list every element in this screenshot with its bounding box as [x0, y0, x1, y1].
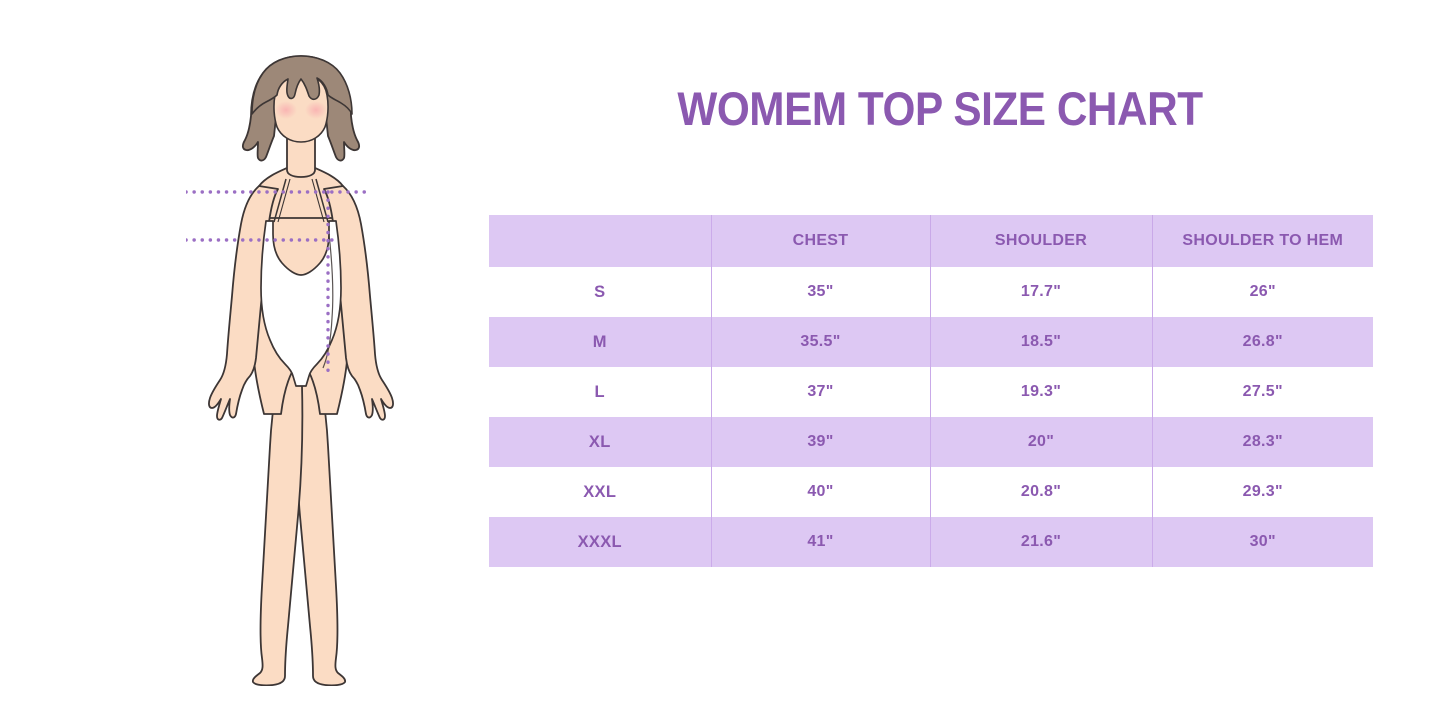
cell-chest: 41" [711, 517, 930, 567]
blush-right [305, 101, 327, 119]
cell-shoulder-to-hem: 26.8" [1152, 317, 1373, 367]
column-header-shoulder-to-hem: SHOULDER TO HEM [1152, 215, 1373, 267]
table-header-row: CHEST SHOULDER SHOULDER TO HEM [489, 215, 1373, 267]
table-row: L 37" 19.3" 27.5" [489, 367, 1373, 417]
cell-size: XL [489, 417, 711, 467]
cell-size: L [489, 367, 711, 417]
cell-chest: 37" [711, 367, 930, 417]
column-header-chest: CHEST [711, 215, 930, 267]
cell-shoulder-to-hem: 27.5" [1152, 367, 1373, 417]
cell-shoulder: 20.8" [930, 467, 1152, 517]
page-title: WOMEM TOP SIZE CHART [517, 83, 1363, 136]
blush-left [275, 101, 297, 119]
cell-chest: 35.5" [711, 317, 930, 367]
column-header-size [489, 215, 711, 267]
cell-shoulder: 18.5" [930, 317, 1152, 367]
figure-panel: SHOULDER CHEST SHOULDER TO HEM [0, 0, 470, 723]
cell-size: M [489, 317, 711, 367]
cell-shoulder-to-hem: 28.3" [1152, 417, 1373, 467]
cell-shoulder: 17.7" [930, 267, 1152, 317]
table-row: XXXL 41" 21.6" 30" [489, 517, 1373, 567]
table-row: M 35.5" 18.5" 26.8" [489, 317, 1373, 367]
cell-shoulder: 19.3" [930, 367, 1152, 417]
cell-chest: 40" [711, 467, 930, 517]
table-header: CHEST SHOULDER SHOULDER TO HEM [489, 215, 1373, 267]
cell-shoulder: 21.6" [930, 517, 1152, 567]
neck [287, 138, 315, 177]
cell-shoulder: 20" [930, 417, 1152, 467]
cell-shoulder-to-hem: 29.3" [1152, 467, 1373, 517]
cell-size: S [489, 267, 711, 317]
column-header-shoulder: SHOULDER [930, 215, 1152, 267]
cell-shoulder-to-hem: 26" [1152, 267, 1373, 317]
table-body: S 35" 17.7" 26" M 35.5" 18.5" 26.8" L 37… [489, 267, 1373, 567]
size-chart-table-container: CHEST SHOULDER SHOULDER TO HEM S 35" 17.… [489, 215, 1373, 567]
table-row: S 35" 17.7" 26" [489, 267, 1373, 317]
cell-shoulder-to-hem: 30" [1152, 517, 1373, 567]
table-row: XL 39" 20" 28.3" [489, 417, 1373, 467]
size-chart-table: CHEST SHOULDER SHOULDER TO HEM S 35" 17.… [489, 215, 1373, 567]
cell-chest: 35" [711, 267, 930, 317]
cell-chest: 39" [711, 417, 930, 467]
table-row: XXL 40" 20.8" 29.3" [489, 467, 1373, 517]
cell-size: XXXL [489, 517, 711, 567]
cell-size: XXL [489, 467, 711, 517]
body-illustration [186, 46, 416, 686]
